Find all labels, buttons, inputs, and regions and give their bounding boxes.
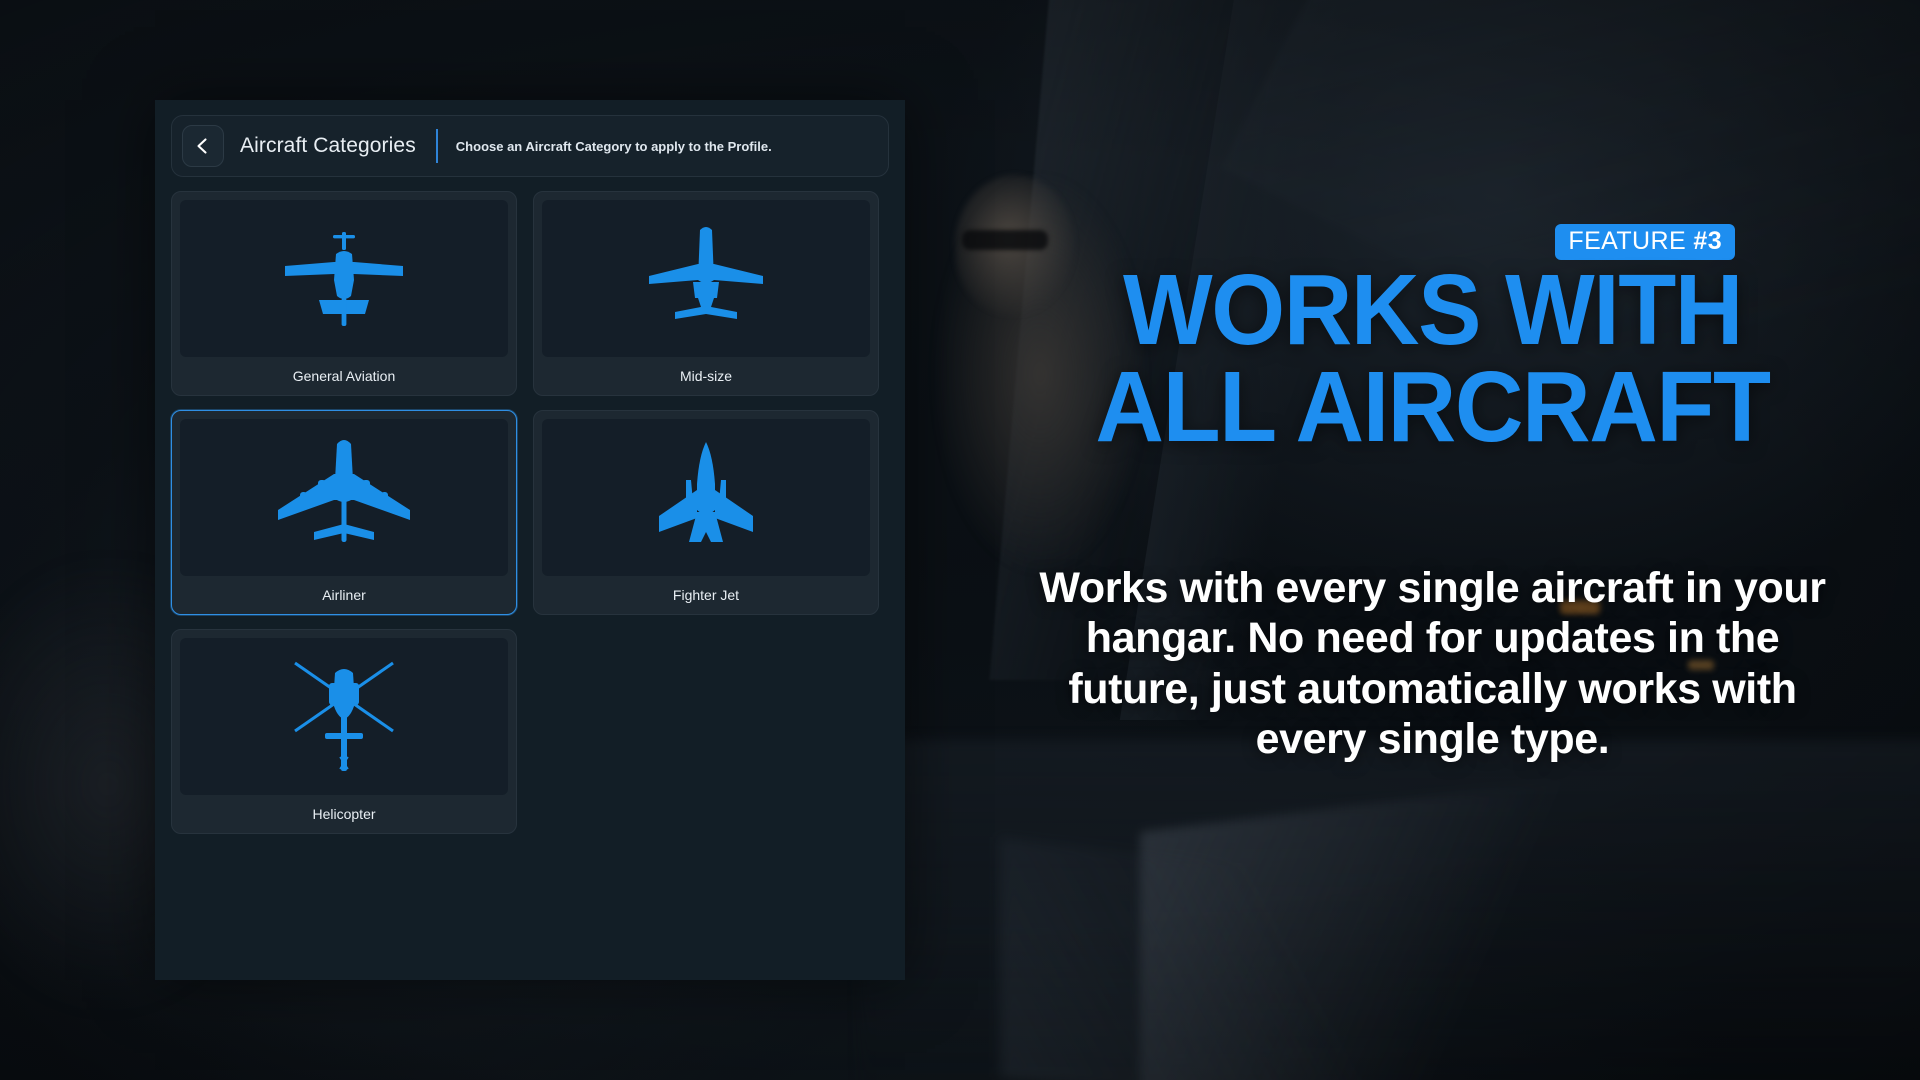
category-card-general-aviation[interactable]: General Aviation (171, 191, 517, 396)
panel-subtitle: Choose an Aircraft Category to apply to … (456, 139, 772, 154)
fighter-jet-icon (641, 440, 771, 555)
promo-body-text: Works with every single aircraft in your… (1033, 563, 1833, 764)
propeller-plane-icon (279, 224, 409, 334)
category-thumbnail (542, 419, 870, 576)
promo-headline-line-1: WORKS WITH (1123, 254, 1742, 366)
feature-badge-prefix: FEATURE (1568, 227, 1693, 255)
category-thumbnail (180, 638, 508, 795)
aircraft-categories-panel: Aircraft Categories Choose an Aircraft C… (155, 100, 905, 980)
helicopter-icon (279, 657, 409, 777)
business-jet-icon (641, 224, 771, 334)
back-button[interactable] (182, 125, 224, 167)
category-thumbnail (180, 419, 508, 576)
category-thumbnail (180, 200, 508, 357)
promo-headline-line-2: ALL AIRCRAFT (969, 359, 1895, 456)
category-card-fighter-jet[interactable]: Fighter Jet (533, 410, 879, 615)
promo-section: FEATURE #3 WORKS WITH ALL AIRCRAFT Works… (945, 0, 1920, 1080)
feature-badge-number: #3 (1693, 227, 1722, 255)
panel-header: Aircraft Categories Choose an Aircraft C… (171, 115, 889, 177)
chevron-left-icon (193, 136, 213, 156)
panel-title: Aircraft Categories (240, 134, 416, 158)
category-card-mid-size[interactable]: Mid-size (533, 191, 879, 396)
category-label: General Aviation (180, 357, 508, 395)
category-label: Fighter Jet (542, 576, 870, 614)
promo-headline: WORKS WITH ALL AIRCRAFT (969, 262, 1895, 456)
category-grid: General Aviation Mid-si (171, 191, 893, 834)
category-card-airliner[interactable]: Airliner (171, 410, 517, 615)
airliner-icon (274, 438, 414, 558)
category-label: Mid-size (542, 357, 870, 395)
header-divider (436, 129, 438, 163)
category-card-helicopter[interactable]: Helicopter (171, 629, 517, 834)
category-thumbnail (542, 200, 870, 357)
category-label: Airliner (180, 576, 508, 614)
category-label: Helicopter (180, 795, 508, 833)
